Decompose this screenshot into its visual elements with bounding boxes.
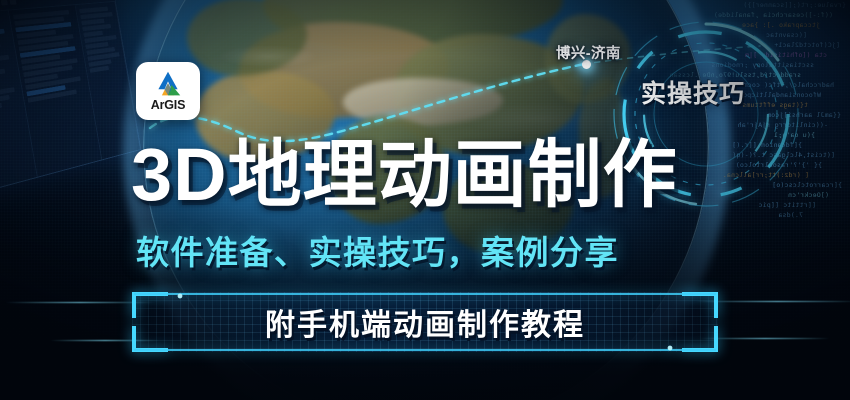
arcgis-a-mark-icon — [150, 70, 186, 98]
page-title: 3D地理动画制作 — [131, 138, 731, 212]
bottom-banner: 附手机端动画制作教程 — [110, 288, 740, 356]
page-subtitle: 软件准备、实操技巧，案例分享 — [136, 236, 736, 269]
arcgis-logo-text: ArGIS — [151, 99, 185, 112]
arcgis-logo: ArGIS — [136, 62, 200, 120]
poster-canvas: 博兴-济南 {rvalue:;rt(;[[scanner]})((f:-])ce… — [0, 0, 850, 400]
banner-label: 附手机端动画制作教程 — [110, 288, 740, 356]
